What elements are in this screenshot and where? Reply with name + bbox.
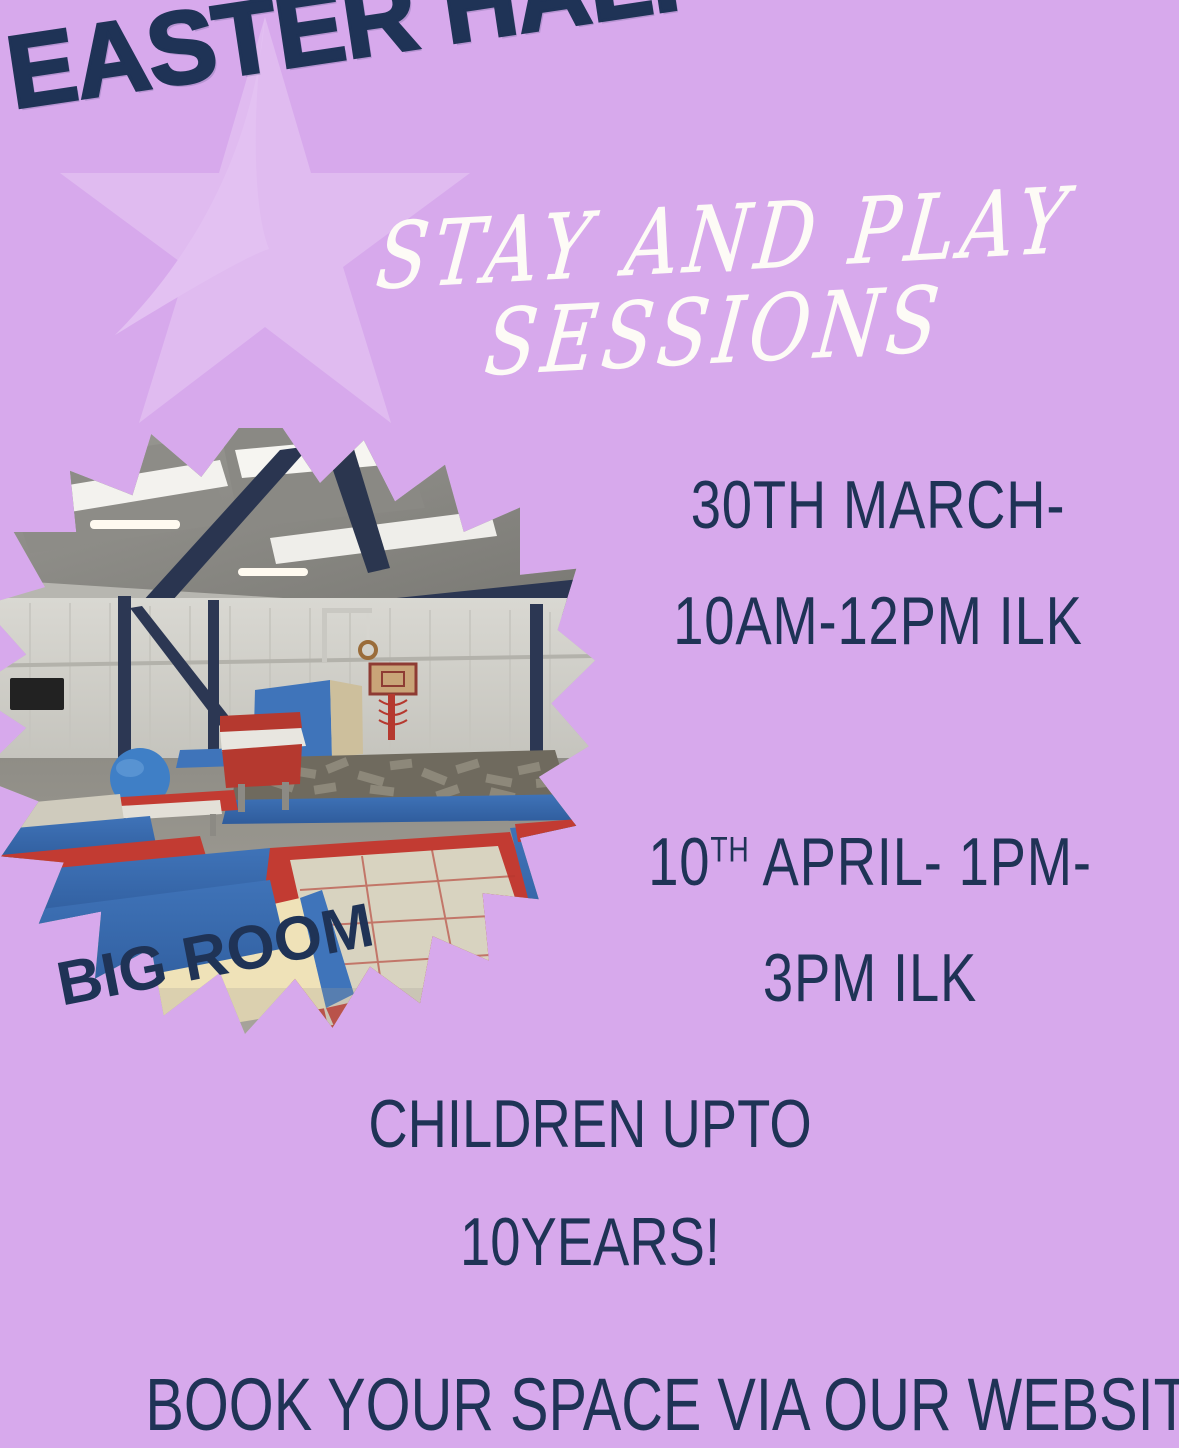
session-2-block: 10TH APRIL- 1PM- 3PM ILK xyxy=(590,805,1150,1036)
age-line-2: 10YEARS! xyxy=(286,1208,894,1276)
subtitle-script: STAY AND PLAY SESSIONS xyxy=(377,167,1107,414)
session-1-time: 10AM-12PM ILK xyxy=(654,564,1102,680)
session-2-ordinal: TH xyxy=(710,830,749,869)
session-1-date: 30TH MARCH- xyxy=(654,448,1102,564)
booking-instruction: BOOK YOUR SPACE VIA OUR WEBSITE xyxy=(145,1368,1034,1442)
session-2-date: 10TH APRIL- 1PM- xyxy=(646,805,1094,921)
session-2-month-time: APRIL- 1PM- xyxy=(750,824,1092,900)
poster-canvas: EASTER HALF TERM STAY AND PLAY SESSIONS xyxy=(0,0,1179,1448)
session-2-time: 3PM ILK xyxy=(646,921,1094,1037)
session-2-day: 10 xyxy=(648,824,710,900)
age-line-1: CHILDREN UPTO xyxy=(286,1090,894,1158)
page-title: EASTER HALF TERM xyxy=(0,0,965,124)
session-1-block: 30TH MARCH- 10AM-12PM ILK xyxy=(598,448,1158,679)
